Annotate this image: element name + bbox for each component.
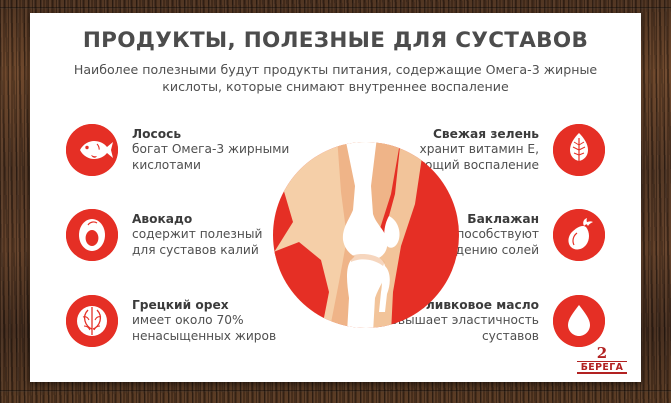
list-item-walnut[interactable]: Грецкий орех имеет около 70% ненасыщенны… [66, 295, 276, 347]
item-title: Лосось [132, 127, 289, 142]
item-description: содержит полезный для суставов калий [132, 227, 262, 258]
page-subtitle: Наиболее полезными будут продукты питани… [71, 61, 601, 95]
infographic-root: ПРОДУКТЫ, ПОЛЕЗНЫЕ ДЛЯ СУСТАВОВ Наиболее… [0, 0, 671, 403]
item-texts: Лосось богат Омега-3 жирными кислотами [132, 124, 289, 173]
wood-seam [0, 390, 671, 392]
logo-number: 2 [597, 344, 607, 362]
item-texts: Авокадо содержит полезный для суставов к… [132, 209, 262, 258]
content-card: ПРОДУКТЫ, ПОЛЕЗНЫЕ ДЛЯ СУСТАВОВ Наиболее… [30, 13, 641, 382]
list-item-avocado[interactable]: Авокадо содержит полезный для суставов к… [66, 209, 262, 261]
item-description: богат Омега-3 жирными кислотами [132, 142, 289, 173]
walnut-icon [66, 295, 118, 347]
avocado-icon [66, 209, 118, 261]
item-texts: Грецкий орех имеет около 70% ненасыщенны… [132, 295, 276, 344]
brand-logo[interactable]: 2 БЕРЕГА [577, 345, 627, 374]
item-title: Авокадо [132, 212, 262, 227]
knee-joint-illustration [273, 142, 459, 328]
leaf-icon [553, 124, 605, 176]
item-title: Свежая зелень [381, 127, 539, 142]
fish-icon [66, 124, 118, 176]
item-description: имеет около 70% ненасыщенных жиров [132, 313, 276, 344]
wood-seam [0, 7, 671, 9]
eggplant-icon [553, 209, 605, 261]
list-item-salmon[interactable]: Лосось богат Омега-3 жирными кислотами [66, 124, 289, 176]
oil-drop-icon [553, 295, 605, 347]
page-title: ПРОДУКТЫ, ПОЛЕЗНЫЕ ДЛЯ СУСТАВОВ [30, 28, 641, 53]
logo-top-row: 2 [577, 345, 627, 360]
item-title: Грецкий орех [132, 298, 276, 313]
logo-wordmark: БЕРЕГА [577, 361, 627, 374]
